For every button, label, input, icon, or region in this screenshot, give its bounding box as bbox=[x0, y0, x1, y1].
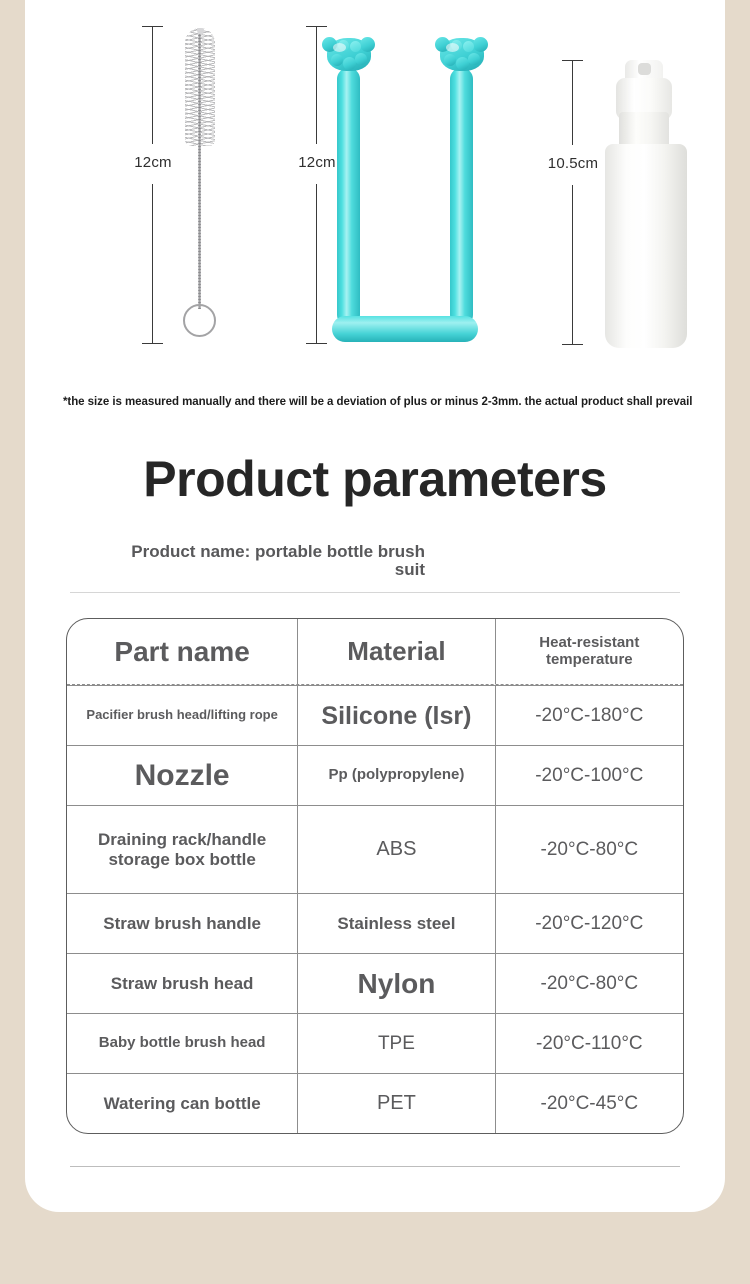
cell-temperature: -20°C-110°C bbox=[496, 1014, 683, 1073]
cell-temperature: -20°C-80°C bbox=[496, 954, 683, 1013]
cell-material: PET bbox=[298, 1074, 495, 1133]
pacifier-brush-head-right bbox=[434, 34, 490, 76]
cell-part-name: Straw brush head bbox=[67, 954, 298, 1013]
pacifier-brush-head-left bbox=[321, 34, 377, 76]
straw-brush-icon bbox=[168, 26, 232, 344]
brush-head-nub bbox=[463, 41, 474, 52]
table-row: Baby bottle brush head TPE -20°C-110°C bbox=[67, 1013, 683, 1073]
table-header-row: Part name Material Heat-resistant temper… bbox=[67, 619, 683, 685]
cell-temperature: -20°C-45°C bbox=[496, 1074, 683, 1133]
cell-part-name: Nozzle bbox=[67, 746, 298, 805]
column-header-heat-line-2: temperature bbox=[546, 651, 633, 668]
product-detail-card: 12cm 12cm bbox=[25, 0, 725, 1212]
dimension-rule-lower bbox=[316, 184, 317, 344]
pacifier-brush-arm-left bbox=[337, 68, 360, 326]
brush-head-ear-right bbox=[473, 37, 488, 52]
brush-head-highlight bbox=[333, 43, 346, 52]
pacifier-brush-arm-right bbox=[450, 68, 473, 326]
brush-head-nub bbox=[444, 54, 456, 66]
specifications-table: Part name Material Heat-resistant temper… bbox=[66, 618, 684, 1134]
divider-below-table bbox=[70, 1166, 680, 1167]
dimension-rule-upper bbox=[152, 26, 153, 144]
cell-temperature: -20°C-120°C bbox=[496, 894, 683, 953]
dimension-rule-upper bbox=[316, 26, 317, 144]
cell-material: Silicone (lsr) bbox=[298, 686, 495, 745]
column-header-material: Material bbox=[298, 619, 495, 684]
product-name-line-1: Product name: portable bottle brush bbox=[85, 543, 425, 561]
brush-head-ear-right bbox=[360, 37, 375, 52]
table-row: Nozzle Pp (polypropylene) -20°C-100°C bbox=[67, 745, 683, 805]
size-disclaimer: *the size is measured manually and there… bbox=[63, 396, 693, 408]
cell-material: TPE bbox=[298, 1014, 495, 1073]
straw-brush-hanging-ring bbox=[183, 304, 216, 337]
product-showcase: 12cm 12cm bbox=[25, 0, 725, 380]
cell-temperature: -20°C-180°C bbox=[496, 686, 683, 745]
brush-head-highlight bbox=[446, 43, 459, 52]
column-header-heat-resistant-temperature: Heat-resistant temperature bbox=[496, 619, 683, 684]
column-header-heat-line-1: Heat-resistant bbox=[539, 634, 639, 651]
dimension-rule-lower bbox=[572, 185, 573, 345]
brush-head-nub bbox=[468, 53, 480, 65]
pump-bottle-collar bbox=[619, 112, 669, 148]
cell-material: Pp (polypropylene) bbox=[298, 746, 495, 805]
pacifier-brush-icon bbox=[327, 28, 483, 344]
cell-part-name-line-1: Draining rack/handle bbox=[98, 830, 266, 849]
cell-part-name: Draining rack/handle storage box bottle bbox=[67, 806, 298, 893]
cell-part-name: Baby bottle brush head bbox=[67, 1014, 298, 1073]
brush-head-nub bbox=[331, 54, 343, 66]
dimension-rule-upper bbox=[572, 60, 573, 145]
product-name-line-2: suit bbox=[85, 561, 425, 579]
table-row: Pacifier brush head/lifting rope Silicon… bbox=[67, 685, 683, 745]
pump-bottle-body bbox=[605, 144, 687, 348]
cell-part-name: Pacifier brush head/lifting rope bbox=[67, 686, 298, 745]
column-header-part-name: Part name bbox=[67, 619, 298, 684]
table-row: Watering can bottle PET -20°C-45°C bbox=[67, 1073, 683, 1133]
cell-part-name-line-2: storage box bottle bbox=[108, 850, 255, 869]
table-row: Straw brush handle Stainless steel -20°C… bbox=[67, 893, 683, 953]
brush-head-nub bbox=[355, 53, 367, 65]
cell-part-name: Watering can bottle bbox=[67, 1074, 298, 1133]
cell-material: Nylon bbox=[298, 954, 495, 1013]
brush-head-nub bbox=[350, 41, 361, 52]
cell-part-name: Straw brush handle bbox=[67, 894, 298, 953]
cell-temperature: -20°C-80°C bbox=[496, 806, 683, 893]
page-title: Product parameters bbox=[25, 450, 725, 508]
table-row: Straw brush head Nylon -20°C-80°C bbox=[67, 953, 683, 1013]
straw-brush-wire-handle bbox=[198, 34, 201, 309]
dimension-cap-bottom bbox=[306, 343, 327, 344]
dimension-cap-bottom bbox=[562, 344, 583, 345]
table-row: Draining rack/handle storage box bottle … bbox=[67, 805, 683, 893]
dimension-cap-bottom bbox=[142, 343, 163, 344]
pump-bottle-icon bbox=[603, 60, 689, 350]
product-name: Product name: portable bottle brush suit bbox=[85, 543, 425, 580]
divider-above-table bbox=[70, 592, 680, 593]
dimension-rule-lower bbox=[152, 184, 153, 344]
cell-material: ABS bbox=[298, 806, 495, 893]
cell-temperature: -20°C-100°C bbox=[496, 746, 683, 805]
pacifier-brush-base-bar bbox=[332, 316, 478, 342]
cell-material: Stainless steel bbox=[298, 894, 495, 953]
